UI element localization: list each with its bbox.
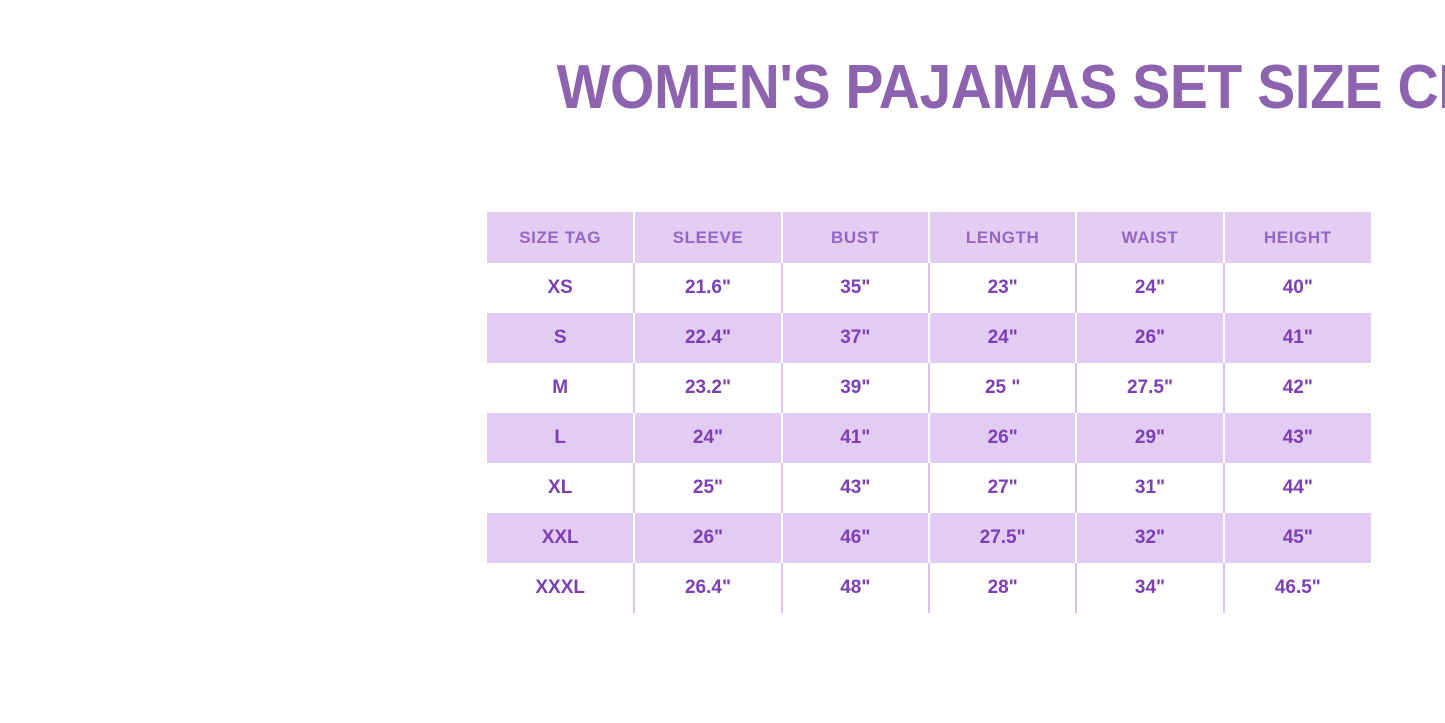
page-title: WOMEN'S PAJAMAS SET SIZE CHART [557, 55, 1358, 121]
table-header-row: SIZE TAG SLEEVE BUST LENGTH WAIST HEIGHT [487, 212, 1371, 263]
cell-waist: 31" [1076, 463, 1223, 513]
cell-bust: 35" [782, 263, 929, 313]
cell-bust: 46" [782, 513, 929, 563]
cell-size-tag: XXXL [487, 563, 634, 613]
table-row: M 23.2" 39" 25 " 27.5" 42" [487, 363, 1371, 413]
cell-length: 24" [929, 313, 1076, 363]
size-chart-table: SIZE TAG SLEEVE BUST LENGTH WAIST HEIGHT… [487, 212, 1371, 613]
column-header-sleeve: SLEEVE [634, 212, 781, 263]
cell-waist: 24" [1076, 263, 1223, 313]
cell-length: 27" [929, 463, 1076, 513]
cell-height: 41" [1224, 313, 1371, 363]
cell-size-tag: L [487, 413, 634, 463]
table-row: XXL 26" 46" 27.5" 32" 45" [487, 513, 1371, 563]
cell-bust: 37" [782, 313, 929, 363]
table-body: XS 21.6" 35" 23" 24" 40" S 22.4" 37" 24"… [487, 263, 1371, 613]
cell-sleeve: 24" [634, 413, 781, 463]
cell-bust: 43" [782, 463, 929, 513]
cell-sleeve: 26" [634, 513, 781, 563]
cell-sleeve: 22.4" [634, 313, 781, 363]
table-row: XXXL 26.4" 48" 28" 34" 46.5" [487, 563, 1371, 613]
cell-size-tag: S [487, 313, 634, 363]
column-header-size-tag: SIZE TAG [487, 212, 634, 263]
column-header-height: HEIGHT [1224, 212, 1371, 263]
cell-length: 26" [929, 413, 1076, 463]
cell-height: 43" [1224, 413, 1371, 463]
column-header-bust: BUST [782, 212, 929, 263]
table-row: S 22.4" 37" 24" 26" 41" [487, 313, 1371, 363]
cell-sleeve: 25" [634, 463, 781, 513]
cell-sleeve: 21.6" [634, 263, 781, 313]
cell-size-tag: XXL [487, 513, 634, 563]
size-chart-page: WOMEN'S PAJAMAS SET SIZE CHART SIZE TAG … [0, 0, 1445, 723]
cell-bust: 39" [782, 363, 929, 413]
cell-length: 27.5" [929, 513, 1076, 563]
cell-height: 46.5" [1224, 563, 1371, 613]
cell-size-tag: XL [487, 463, 634, 513]
cell-length: 23" [929, 263, 1076, 313]
cell-length: 28" [929, 563, 1076, 613]
column-header-length: LENGTH [929, 212, 1076, 263]
cell-height: 42" [1224, 363, 1371, 413]
cell-size-tag: XS [487, 263, 634, 313]
cell-bust: 41" [782, 413, 929, 463]
table-row: XL 25" 43" 27" 31" 44" [487, 463, 1371, 513]
cell-height: 44" [1224, 463, 1371, 513]
table-row: XS 21.6" 35" 23" 24" 40" [487, 263, 1371, 313]
column-header-waist: WAIST [1076, 212, 1223, 263]
cell-sleeve: 23.2" [634, 363, 781, 413]
cell-sleeve: 26.4" [634, 563, 781, 613]
table-row: L 24" 41" 26" 29" 43" [487, 413, 1371, 463]
cell-height: 45" [1224, 513, 1371, 563]
cell-length: 25 " [929, 363, 1076, 413]
cell-waist: 27.5" [1076, 363, 1223, 413]
cell-waist: 29" [1076, 413, 1223, 463]
cell-size-tag: M [487, 363, 634, 413]
cell-waist: 26" [1076, 313, 1223, 363]
cell-height: 40" [1224, 263, 1371, 313]
table-header: SIZE TAG SLEEVE BUST LENGTH WAIST HEIGHT [487, 212, 1371, 263]
cell-waist: 34" [1076, 563, 1223, 613]
cell-waist: 32" [1076, 513, 1223, 563]
cell-bust: 48" [782, 563, 929, 613]
